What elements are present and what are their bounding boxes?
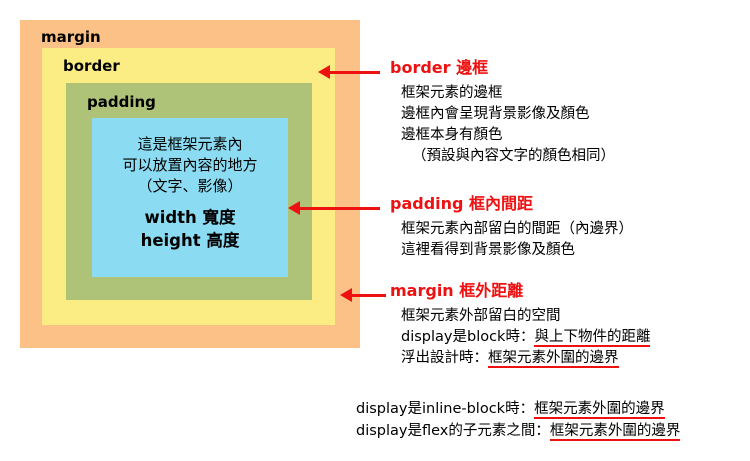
box-model-diagram: margin border padding 這是框架元素內 可以放置內容的地方 …	[20, 20, 360, 348]
margin-layer-label: margin	[41, 30, 101, 45]
annotation-line-prefix: 浮出設計時：	[401, 350, 488, 366]
border-layer-label: border	[63, 59, 120, 74]
annotation-margin-heading: margin 框外距離	[390, 280, 650, 302]
annotation-border-heading: border 邊框	[390, 57, 615, 79]
annotation-line-underlined: 與上下物件的距離	[534, 329, 650, 347]
annotation-line-underlined: 框架元素外圍的邊界	[488, 350, 619, 368]
annotation-padding: padding 框內間距 框架元素內部留白的間距（內邊界） 這裡看得到背景影像及…	[390, 193, 633, 261]
annotation-line-prefix: display是inline-block時：	[356, 401, 534, 417]
annotation-line-prefix: display是flex的子元素之間：	[356, 423, 550, 439]
padding-layer: padding 這是框架元素內 可以放置內容的地方 （文字、影像） width …	[66, 83, 312, 300]
border-layer: border padding 這是框架元素內 可以放置內容的地方 （文字、影像）…	[42, 48, 335, 325]
content-text-line: 這是框架元素內	[137, 134, 242, 155]
content-height-label: height 高度	[141, 229, 240, 252]
annotation-padding-body: 框架元素內部留白的間距（內邊界） 這裡看得到背景影像及顏色	[390, 219, 633, 261]
padding-layer-label: padding	[87, 95, 156, 110]
content-layer: 這是框架元素內 可以放置內容的地方 （文字、影像） width 寬度 heigh…	[92, 118, 288, 277]
annotation-line-prefix: display是block時：	[401, 329, 534, 345]
annotation-line: 框架元素外部留白的空間	[401, 306, 650, 327]
annotation-line: 浮出設計時：框架元素外圍的邊界	[401, 348, 650, 369]
annotation-line: 邊框內會呈現背景影像及顏色	[401, 104, 615, 125]
annotation-line: display是block時：與上下物件的距離	[401, 327, 650, 348]
content-text-line: （文字、影像）	[137, 176, 242, 197]
annotation-margin-body: 框架元素外部留白的空間 display是block時：與上下物件的距離 浮出設計…	[390, 306, 650, 369]
annotation-line: （預設與內容文字的顏色相同）	[401, 146, 615, 167]
margin-layer: margin border padding 這是框架元素內 可以放置內容的地方 …	[20, 20, 360, 348]
content-text-line: 可以放置內容的地方	[122, 155, 257, 176]
annotation-line: display是flex的子元素之間：框架元素外圍的邊界	[356, 420, 750, 442]
annotation-line: 框架元素的邊框	[401, 83, 615, 104]
annotation-border: border 邊框 框架元素的邊框 邊框內會呈現背景影像及顏色 邊框本身有顏色 …	[390, 57, 615, 167]
annotation-line: display是inline-block時：框架元素外圍的邊界	[356, 398, 750, 420]
annotation-line: 這裡看得到背景影像及顏色	[401, 240, 633, 261]
annotation-line-underlined: 框架元素外圍的邊界	[550, 423, 681, 441]
annotation-line-underlined: 框架元素外圍的邊界	[534, 401, 665, 419]
annotation-border-body: 框架元素的邊框 邊框內會呈現背景影像及顏色 邊框本身有顏色 （預設與內容文字的顏…	[390, 83, 615, 167]
annotation-line: 框架元素內部留白的間距（內邊界）	[401, 219, 633, 240]
annotation-padding-heading: padding 框內間距	[390, 193, 633, 215]
content-width-label: width 寬度	[144, 206, 235, 229]
annotation-margin: margin 框外距離 框架元素外部留白的空間 display是block時：與…	[390, 280, 650, 369]
annotation-line: 邊框本身有顏色	[401, 125, 615, 146]
annotation-footer: display是inline-block時：框架元素外圍的邊界 display是…	[356, 398, 750, 442]
